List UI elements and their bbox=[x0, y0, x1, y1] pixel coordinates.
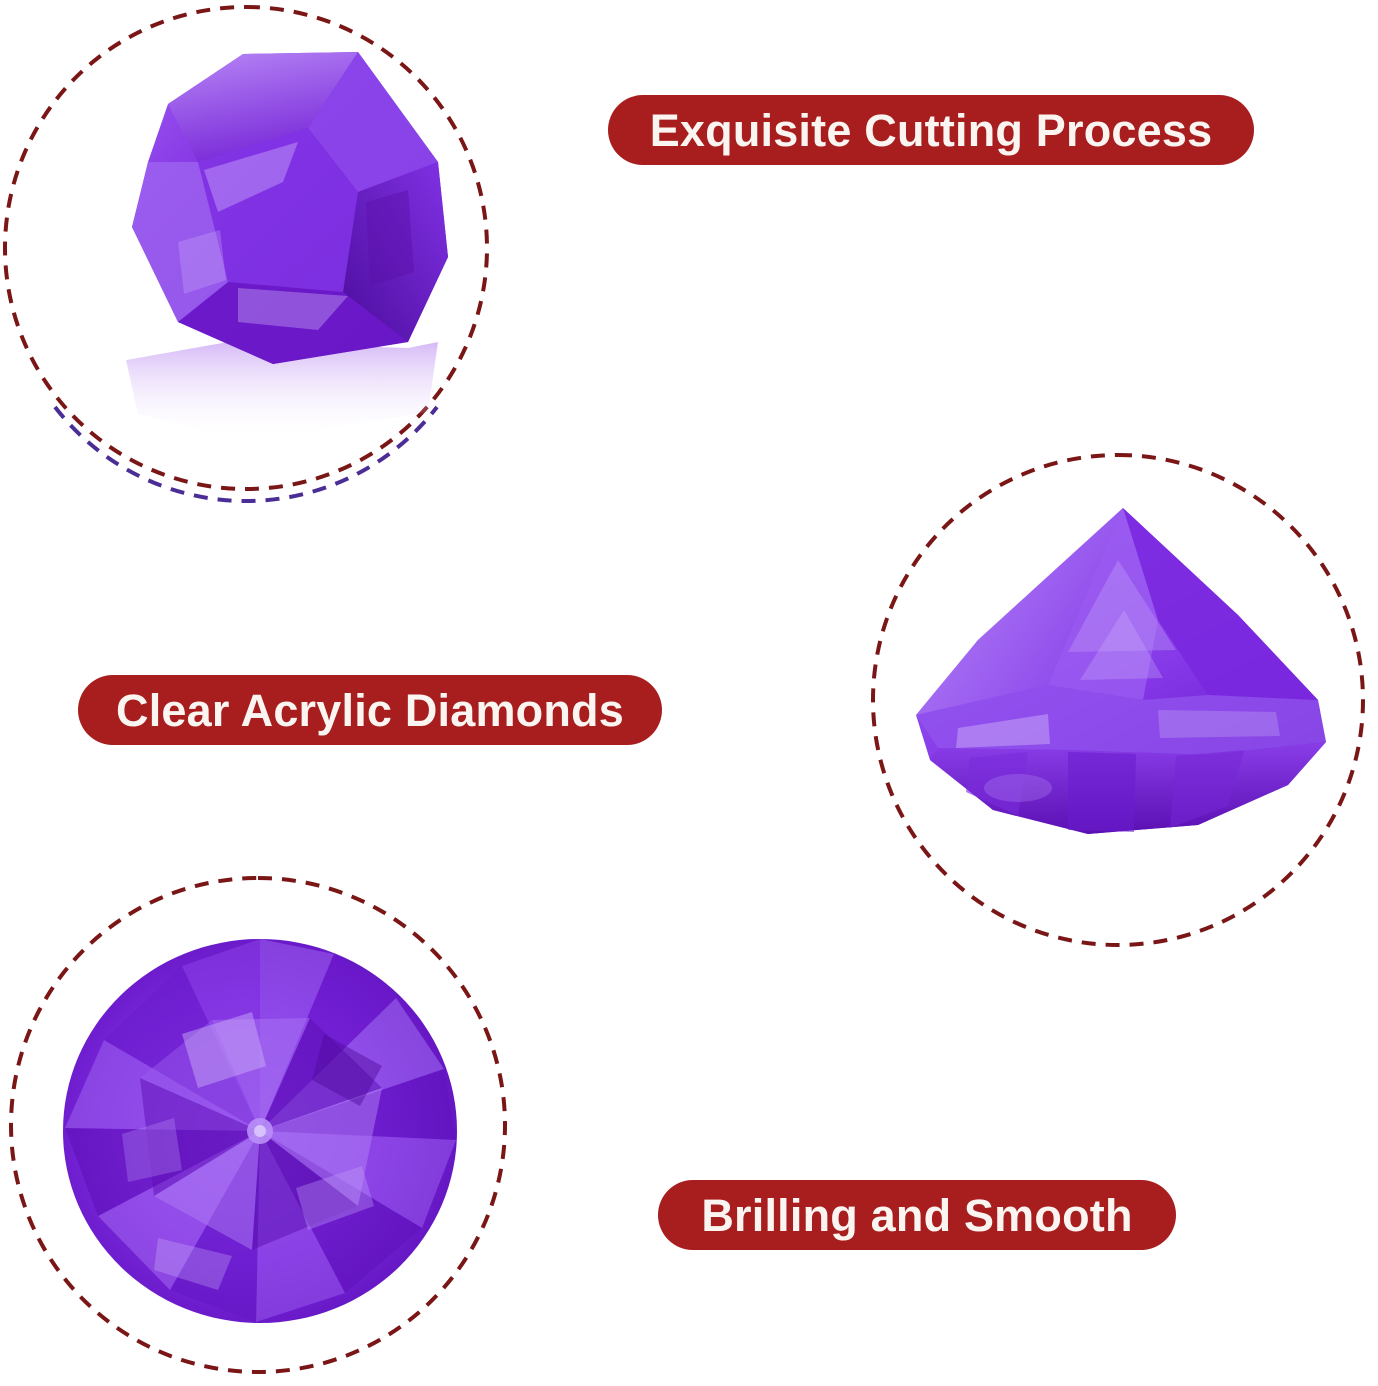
feature-badge-label: Exquisite Cutting Process bbox=[650, 108, 1213, 153]
product-feature-collage: Exquisite Cutting Process Clear Acrylic … bbox=[0, 0, 1378, 1386]
feature-badge-exquisite-cutting-process: Exquisite Cutting Process bbox=[608, 95, 1254, 165]
feature-badge-brilling-and-smooth: Brilling and Smooth bbox=[658, 1180, 1176, 1250]
gem-diamond-cone-view bbox=[908, 500, 1338, 845]
feature-badge-label: Brilling and Smooth bbox=[701, 1193, 1132, 1238]
gem-diamond-side-view bbox=[108, 42, 458, 452]
feature-badge-clear-acrylic-diamonds: Clear Acrylic Diamonds bbox=[78, 675, 662, 745]
feature-badge-label: Clear Acrylic Diamonds bbox=[116, 688, 624, 733]
gem-diamond-top-view bbox=[62, 938, 458, 1324]
